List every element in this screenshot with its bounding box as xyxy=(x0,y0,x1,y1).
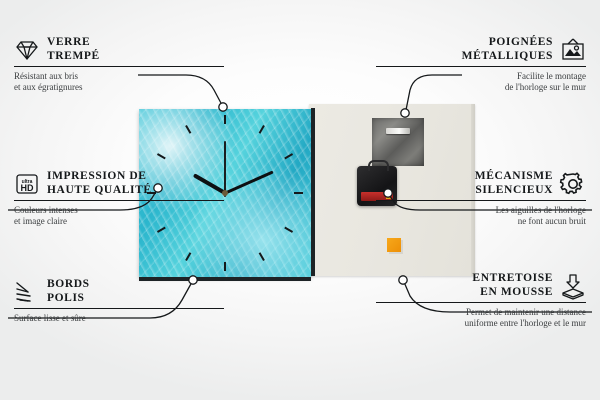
clock-tick xyxy=(284,227,293,233)
gear-icon xyxy=(560,171,586,197)
clock-tick xyxy=(259,125,265,134)
hanger-slot xyxy=(386,128,410,134)
feature-mecanisme-silencieux: MÉCANISME SILENCIEUX Les aiguilles de l'… xyxy=(376,170,586,227)
divider xyxy=(14,308,224,309)
clock-tick xyxy=(224,262,226,271)
clock-tick xyxy=(185,252,191,261)
foam-spacer xyxy=(387,238,401,252)
feature-title: VERRE TREMPÉ xyxy=(47,36,100,63)
diamond-icon xyxy=(14,37,40,63)
polished-edge-icon xyxy=(14,279,40,305)
ultra-hd-icon: ultra HD xyxy=(14,171,40,197)
feature-desc: Les aiguilles de l'horloge ne font aucun… xyxy=(376,205,586,227)
picture-hanger-icon xyxy=(560,37,586,63)
feature-verre-trempe: VERRE TREMPÉ Résistant aux bris et aux é… xyxy=(14,36,224,93)
clock-tick xyxy=(284,153,293,159)
feature-title: MÉCANISME SILENCIEUX xyxy=(475,170,553,197)
divider xyxy=(14,66,224,67)
feature-desc: Facilite le montage de l'horloge sur le … xyxy=(376,71,586,93)
divider xyxy=(376,200,586,201)
divider xyxy=(376,66,586,67)
second-hand xyxy=(224,141,226,197)
metal-hanger-plate xyxy=(372,118,424,166)
feature-title: ENTRETOISE EN MOUSSE xyxy=(472,272,553,299)
feature-poignees-metalliques: POIGNÉES MÉTALLIQUES Facilite le montage… xyxy=(376,36,586,93)
foam-spacer-icon xyxy=(560,273,586,299)
minute-hand xyxy=(224,170,273,194)
feature-desc: Couleurs intenses et image claire xyxy=(14,205,224,227)
divider xyxy=(14,200,224,201)
feature-impression-hd: ultra HD IMPRESSION DE HAUTE QUALITÉ Cou… xyxy=(14,170,224,227)
feature-desc: Résistant aux bris et aux égratignures xyxy=(14,71,224,93)
clock-tick xyxy=(259,252,265,261)
clock-tick xyxy=(185,125,191,134)
feature-desc: Permet de maintenir une distance uniform… xyxy=(376,307,586,329)
divider xyxy=(376,302,586,303)
infographic-canvas: VERRE TREMPÉ Résistant aux bris et aux é… xyxy=(0,0,600,400)
clock-tick xyxy=(157,153,166,159)
clock-tick xyxy=(294,192,303,194)
feature-title: IMPRESSION DE HAUTE QUALITÉ xyxy=(47,170,152,197)
feature-bords-polis: BORDS POLIS Surface lisse et sûre xyxy=(14,278,224,324)
clock-tick xyxy=(224,115,226,124)
clock-tick xyxy=(157,227,166,233)
feature-desc: Surface lisse et sûre xyxy=(14,313,224,324)
hd-label: HD xyxy=(21,183,34,193)
feature-entretoise-en-mousse: ENTRETOISE EN MOUSSE Permet de maintenir… xyxy=(376,272,586,329)
feature-title: POIGNÉES MÉTALLIQUES xyxy=(462,36,553,63)
feature-title: BORDS POLIS xyxy=(47,278,90,305)
